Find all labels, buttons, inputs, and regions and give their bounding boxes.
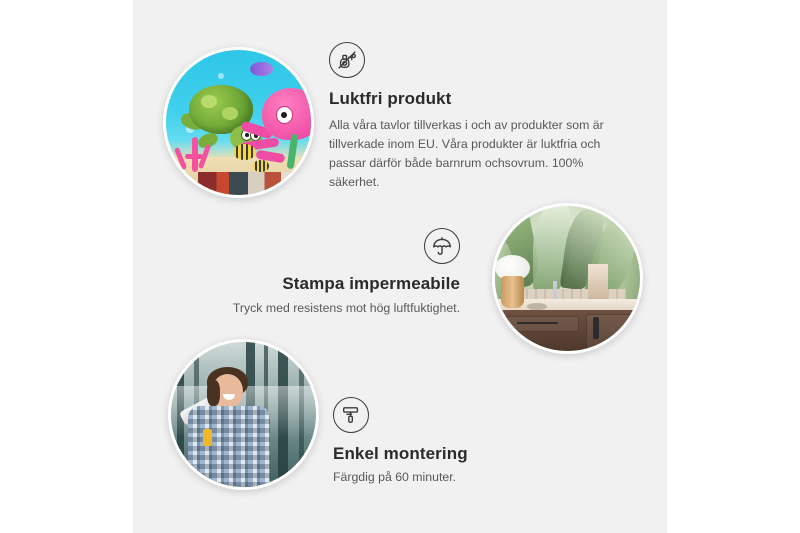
feature-block-odour-free: Luktfri produkt Alla våra tavlor tillver… bbox=[329, 42, 629, 192]
painter-scene bbox=[171, 342, 316, 487]
umbrella-icon bbox=[424, 228, 460, 264]
fish-striped bbox=[233, 144, 256, 160]
fish-striped bbox=[253, 160, 269, 172]
faucet bbox=[553, 281, 557, 298]
feature-title: Luktfri produkt bbox=[329, 88, 629, 109]
plaid-shirt bbox=[188, 406, 269, 487]
bathroom-scene bbox=[495, 206, 640, 351]
feature-description: Tryck med resistens mot hög luftfuktighe… bbox=[160, 299, 460, 318]
feature-title: Stampa impermeabile bbox=[160, 273, 460, 294]
no-fragrance-icon bbox=[329, 42, 365, 78]
frame-strip bbox=[198, 172, 302, 198]
photo-painter-forest bbox=[168, 339, 319, 490]
coral bbox=[175, 128, 219, 172]
drawer-handle bbox=[517, 322, 558, 324]
product-feature-infographic: Luktfri produkt Alla våra tavlor tillver… bbox=[0, 0, 800, 533]
drawer bbox=[499, 316, 579, 332]
door-handle bbox=[593, 317, 599, 339]
feature-description: Alla våra tavlor tillverkas i och av pro… bbox=[329, 116, 629, 192]
vase bbox=[501, 276, 524, 308]
feature-description: Färgdig på 60 minuter. bbox=[333, 468, 613, 487]
feature-block-easy-assembly: Enkel montering Färgdig på 60 minuter. bbox=[333, 397, 613, 487]
bubble-icon bbox=[218, 73, 224, 79]
paint-roller-icon bbox=[333, 397, 369, 433]
hand-tool bbox=[203, 429, 212, 446]
tall-container bbox=[588, 264, 608, 302]
ocean-scene bbox=[166, 50, 311, 195]
hair-side bbox=[207, 380, 220, 406]
feature-block-waterproof: Stampa impermeabile Tryck med resistens … bbox=[160, 228, 460, 318]
photo-bathroom-vanity bbox=[492, 203, 643, 354]
octopus-body bbox=[262, 88, 314, 140]
feature-title: Enkel montering bbox=[333, 443, 613, 464]
photo-ocean-mural bbox=[163, 47, 314, 198]
octopus-eye bbox=[276, 106, 293, 124]
wood-cabinet bbox=[492, 310, 643, 351]
